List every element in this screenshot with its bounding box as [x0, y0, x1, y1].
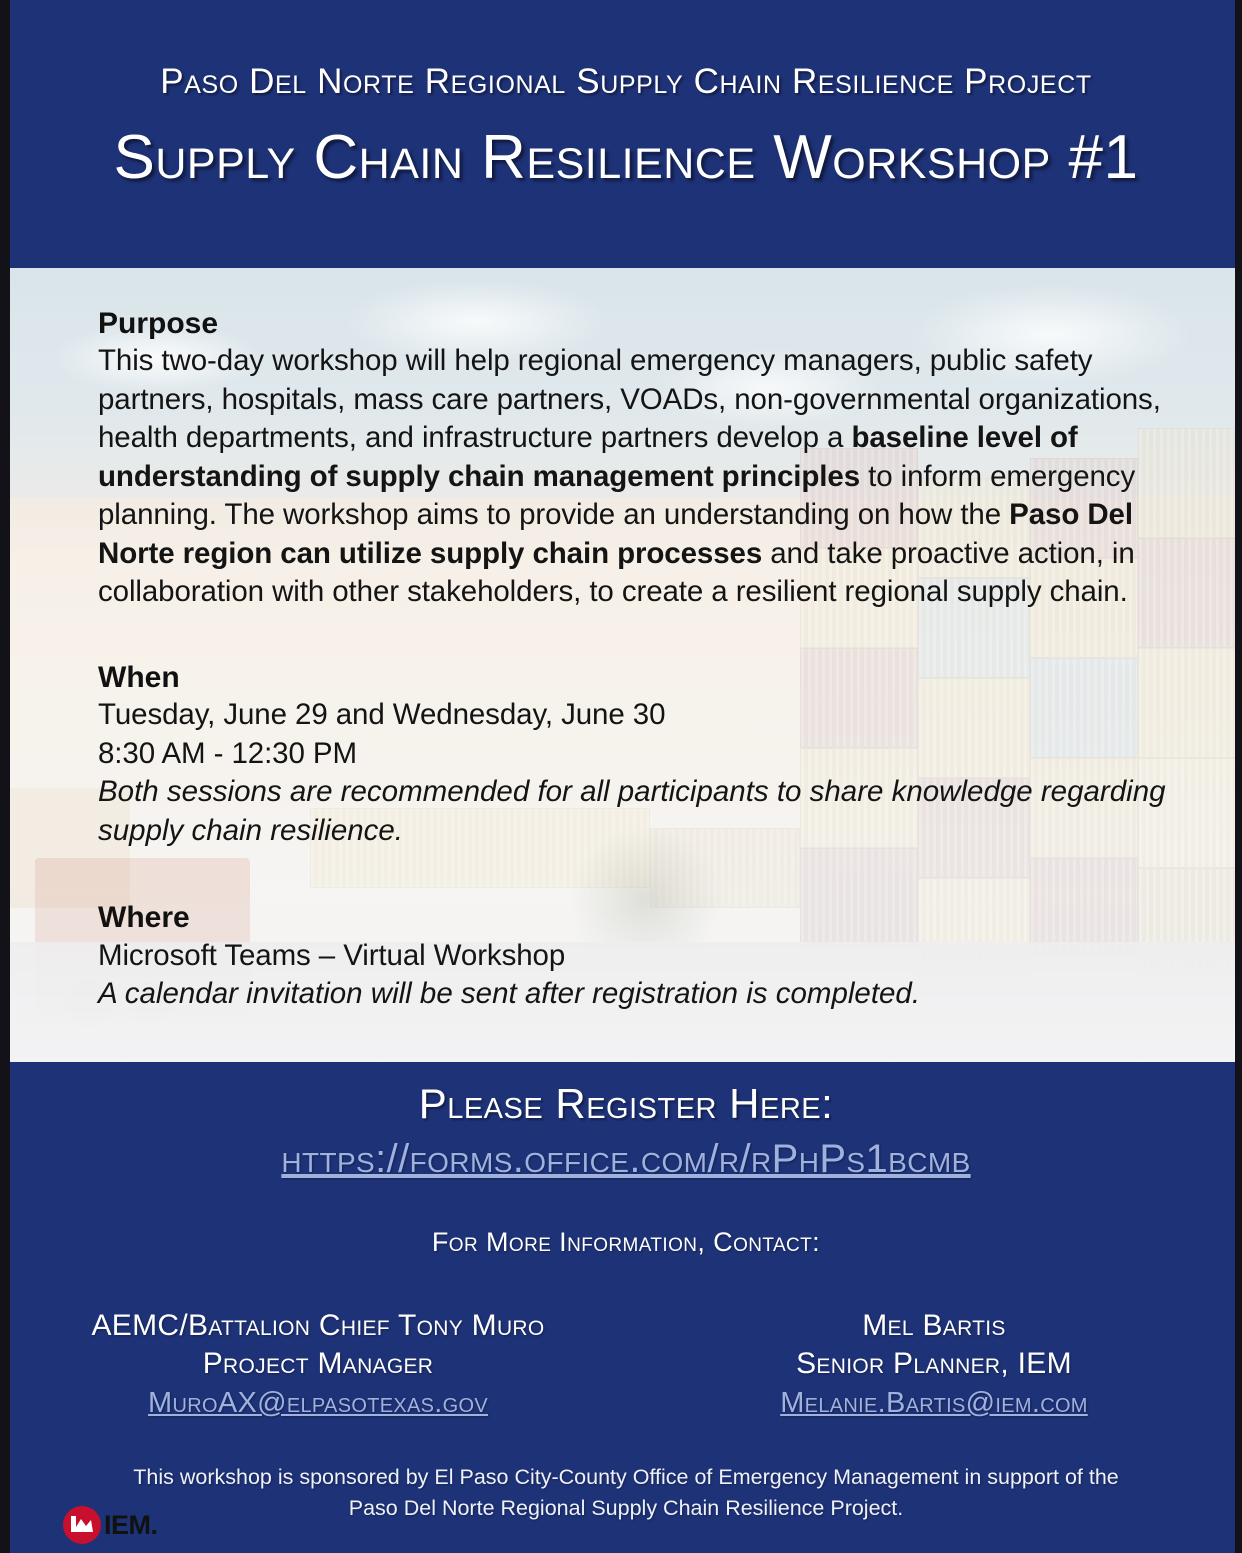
register-link[interactable]: https://forms.office.com/r/rPhPs1bcmb	[281, 1137, 970, 1181]
contact-card-2: Mel Bartis Senior Planner, IEM Melanie.B…	[626, 1307, 1242, 1423]
contact-email-link[interactable]: MuroAX@elpasotexas.gov	[148, 1385, 488, 1423]
spacer-when	[98, 612, 1187, 660]
where-location: Microsoft Teams – Virtual Workshop	[98, 937, 1187, 975]
contact-heading: For More Information, Contact:	[10, 1227, 1242, 1258]
sponsor-line-2: Paso Del Norte Regional Supply Chain Res…	[10, 1493, 1242, 1524]
project-eyebrow: Paso Del Norte Regional Supply Chain Res…	[10, 62, 1242, 102]
sponsor-line-1: This workshop is sponsored by El Paso Ci…	[10, 1462, 1242, 1493]
page-title: Supply Chain Resilience Workshop #1	[10, 122, 1242, 193]
when-heading: When	[98, 660, 1187, 695]
spacer-where	[98, 850, 1187, 900]
body-content: Purpose This two-day workshop will help …	[98, 306, 1187, 1013]
when-time: 8:30 AM - 12:30 PM	[98, 735, 1187, 773]
contact-columns: AEMC/Battalion Chief Tony Muro Project M…	[10, 1307, 1242, 1423]
when-note: Both sessions are recommended for all pa…	[98, 773, 1187, 850]
when-dates: Tuesday, June 29 and Wednesday, June 30	[98, 696, 1187, 734]
purpose-paragraph: This two-day workshop will help regional…	[98, 342, 1187, 611]
sponsor-note: This workshop is sponsored by El Paso Ci…	[10, 1462, 1242, 1523]
footer-banner: Please Register Here: https://forms.offi…	[10, 1062, 1242, 1553]
where-heading: Where	[98, 900, 1187, 935]
where-note: A calendar invitation will be sent after…	[98, 975, 1187, 1013]
iem-circle-mark-icon	[62, 1505, 102, 1545]
body-photo-section: Purpose This two-day workshop will help …	[10, 268, 1235, 1062]
contact-card-1: AEMC/Battalion Chief Tony Muro Project M…	[10, 1307, 626, 1423]
contact-role: Senior Planner, IEM	[626, 1345, 1242, 1383]
contact-name: Mel Bartis	[626, 1307, 1242, 1345]
flyer-page: Paso Del Norte Regional Supply Chain Res…	[0, 0, 1242, 1553]
purpose-heading: Purpose	[98, 306, 1187, 341]
iem-logo: IEM.	[62, 1502, 177, 1548]
contact-role: Project Manager	[10, 1345, 626, 1383]
iem-wordmark: IEM.	[104, 1510, 158, 1541]
register-heading: Please Register Here:	[10, 1080, 1242, 1128]
register-url-wrapper: https://forms.office.com/r/rPhPs1bcmb	[10, 1137, 1242, 1182]
header-banner: Paso Del Norte Regional Supply Chain Res…	[10, 0, 1242, 268]
page-edge-left	[0, 0, 10, 1553]
contact-email-link[interactable]: Melanie.Bartis@iem.com	[780, 1385, 1088, 1423]
contact-name: AEMC/Battalion Chief Tony Muro	[10, 1307, 626, 1345]
page-edge-right	[1235, 0, 1242, 1553]
